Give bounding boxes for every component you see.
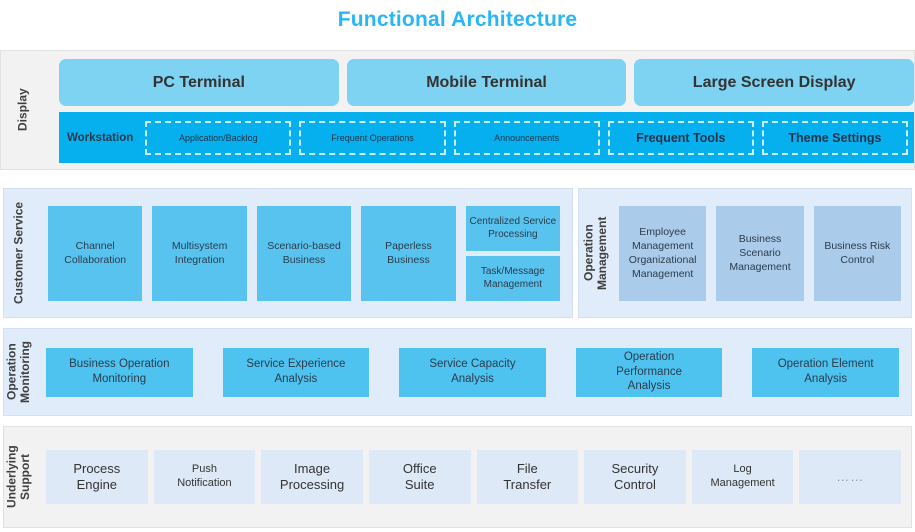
- terminal-button-large-screen[interactable]: Large Screen Display: [634, 59, 914, 106]
- customer-service-box-scenario-based-business[interactable]: Scenario-based Business: [257, 206, 351, 301]
- display-section: Display PC Terminal Mobile Terminal Larg…: [0, 50, 915, 170]
- operation-monitoring-section-label: Operation Monitoring: [4, 329, 34, 415]
- workstation-item-frequent-tools[interactable]: Frequent Tools: [608, 121, 754, 155]
- underlying-support-box-file-transfer[interactable]: File Transfer: [477, 450, 579, 504]
- underlying-support-box-log-management[interactable]: Log Management: [692, 450, 794, 504]
- workstation-item-frequent-operations[interactable]: Frequent Operations: [299, 121, 445, 155]
- customer-service-box-centralized-service-processing[interactable]: Centralized Service Processing: [466, 206, 560, 251]
- operation-management-content: Employee Management Organizational Manag…: [613, 189, 911, 317]
- display-section-label: Display: [1, 51, 45, 169]
- customer-service-stacked-group: Centralized Service Processing Task/Mess…: [466, 206, 560, 301]
- operation-monitoring-box-service-experience-analysis[interactable]: Service Experience Analysis: [223, 348, 370, 397]
- operation-monitoring-box-operation-element-analysis[interactable]: Operation Element Analysis: [752, 348, 899, 397]
- customer-service-section-label: Customer Service: [4, 189, 34, 317]
- terminal-button-row: PC Terminal Mobile Terminal Large Screen…: [59, 59, 914, 106]
- operation-monitoring-box-service-capacity-analysis[interactable]: Service Capacity Analysis: [399, 348, 546, 397]
- operation-management-box-business-scenario-management[interactable]: Business Scenario Management: [716, 206, 803, 301]
- workstation-item-announcements[interactable]: Announcements: [454, 121, 600, 155]
- underlying-support-section-label: Underlying Support: [4, 427, 34, 527]
- underlying-support-box-image-processing[interactable]: Image Processing: [261, 450, 363, 504]
- page-title: Functional Architecture: [0, 8, 915, 32]
- customer-service-box-channel-collaboration[interactable]: Channel Collaboration: [48, 206, 142, 301]
- customer-service-box-paperless-business[interactable]: Paperless Business: [361, 206, 455, 301]
- terminal-button-mobile[interactable]: Mobile Terminal: [347, 59, 627, 106]
- underlying-support-box-more[interactable]: ……: [799, 450, 901, 504]
- underlying-support-section: Underlying Support Process Engine Push N…: [3, 426, 912, 528]
- underlying-support-box-process-engine[interactable]: Process Engine: [46, 450, 148, 504]
- operation-management-box-business-risk-control[interactable]: Business Risk Control: [814, 206, 901, 301]
- operation-monitoring-box-operation-performance-analysis[interactable]: Operation Performance Analysis: [576, 348, 723, 397]
- terminal-button-pc[interactable]: PC Terminal: [59, 59, 339, 106]
- customer-service-box-task-message-management[interactable]: Task/Message Management: [466, 256, 560, 301]
- workstation-item-application-backlog[interactable]: Application/Backlog: [145, 121, 291, 155]
- operation-monitoring-box-business-operation-monitoring[interactable]: Business Operation Monitoring: [46, 348, 193, 397]
- underlying-support-box-push-notification[interactable]: Push Notification: [154, 450, 256, 504]
- customer-service-section: Customer Service Channel Collaboration M…: [3, 188, 573, 318]
- underlying-support-box-security-control[interactable]: Security Control: [584, 450, 686, 504]
- underlying-support-box-office-suite[interactable]: Office Suite: [369, 450, 471, 504]
- customer-service-box-multisystem-integration[interactable]: Multisystem Integration: [152, 206, 246, 301]
- workstation-row: Workstation Application/Backlog Frequent…: [59, 112, 914, 163]
- display-section-content: PC Terminal Mobile Terminal Large Screen…: [45, 51, 914, 169]
- operation-management-section-label: Operation Management: [579, 189, 613, 317]
- operation-monitoring-content: Business Operation Monitoring Service Ex…: [34, 329, 911, 415]
- workstation-label: Workstation: [67, 132, 137, 144]
- operation-monitoring-section: Operation Monitoring Business Operation …: [3, 328, 912, 416]
- operation-management-box-employee-management[interactable]: Employee Management Organizational Manag…: [619, 206, 706, 301]
- operation-management-section: Operation Management Employee Management…: [578, 188, 912, 318]
- underlying-support-content: Process Engine Push Notification Image P…: [34, 427, 911, 527]
- workstation-item-theme-settings[interactable]: Theme Settings: [762, 121, 908, 155]
- customer-service-content: Channel Collaboration Multisystem Integr…: [34, 189, 572, 317]
